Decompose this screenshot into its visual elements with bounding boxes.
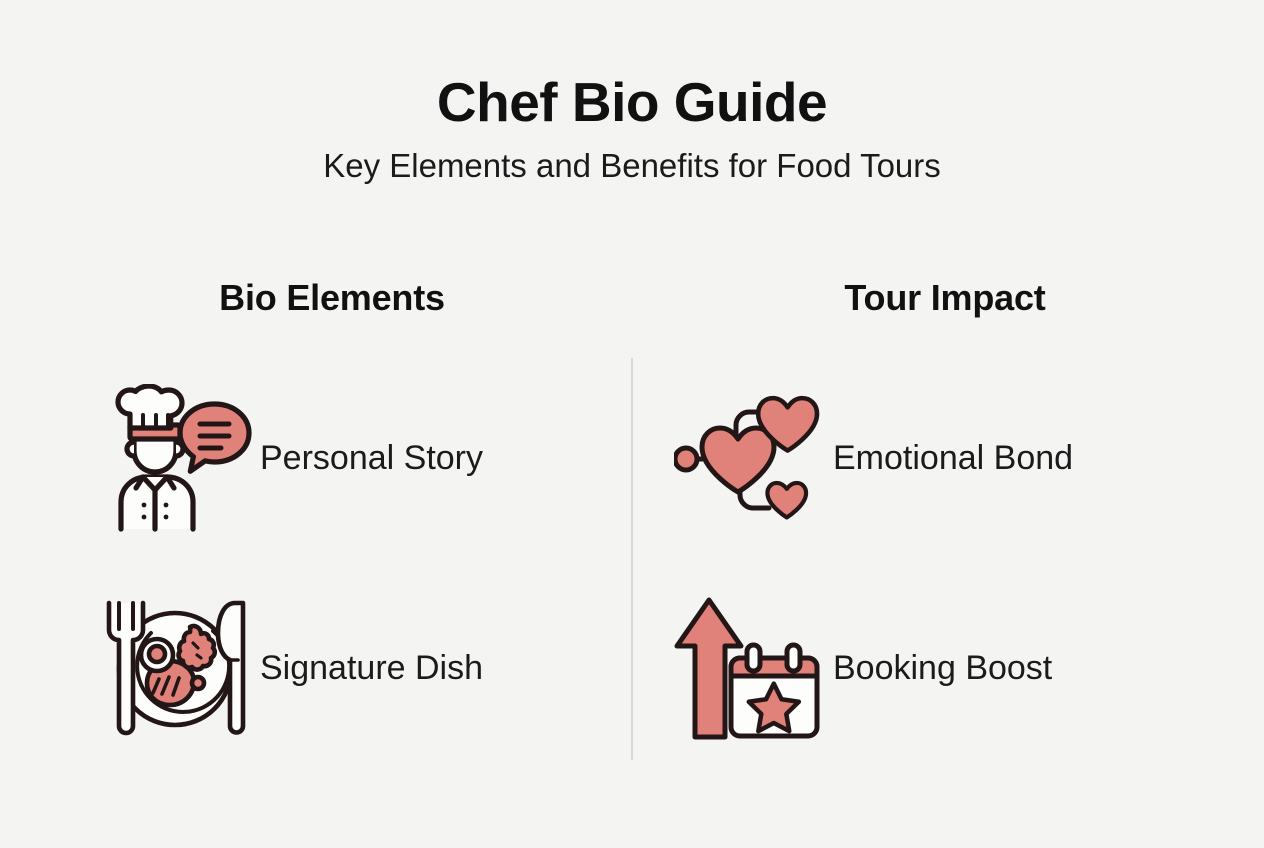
list-item[interactable]: Personal Story <box>90 374 632 544</box>
page-title: Chef Bio Guide <box>0 74 1264 132</box>
tour-impact-list: Emotional Bond <box>663 374 1245 754</box>
page-subtitle: Key Elements and Benefits for Food Tours <box>0 148 1264 184</box>
column-bio-elements: Bio Elements <box>32 278 632 794</box>
list-item-label: Booking Boost <box>833 649 1052 688</box>
list-item-label: Personal Story <box>260 439 483 478</box>
list-item[interactable]: Emotional Bond <box>663 374 1245 544</box>
infographic-canvas: Chef Bio Guide Key Elements and Benefits… <box>0 0 1264 848</box>
column-tour-impact: Tour Impact <box>645 278 1245 794</box>
column-heading-tour-impact: Tour Impact <box>645 278 1245 318</box>
arrow-calendar-star-icon <box>663 589 833 749</box>
column-heading-bio-elements: Bio Elements <box>32 278 632 318</box>
plate-cutlery-icon <box>90 589 260 749</box>
columns-region: Bio Elements <box>0 278 1264 798</box>
list-item[interactable]: Signature Dish <box>90 584 632 754</box>
list-item-label: Emotional Bond <box>833 439 1073 478</box>
header: Chef Bio Guide Key Elements and Benefits… <box>0 74 1264 184</box>
bio-elements-list: Personal Story <box>90 374 632 754</box>
list-item-label: Signature Dish <box>260 649 483 688</box>
heart-network-icon <box>663 379 833 539</box>
chef-speech-bubble-icon <box>90 379 260 539</box>
list-item[interactable]: Booking Boost <box>663 584 1245 754</box>
